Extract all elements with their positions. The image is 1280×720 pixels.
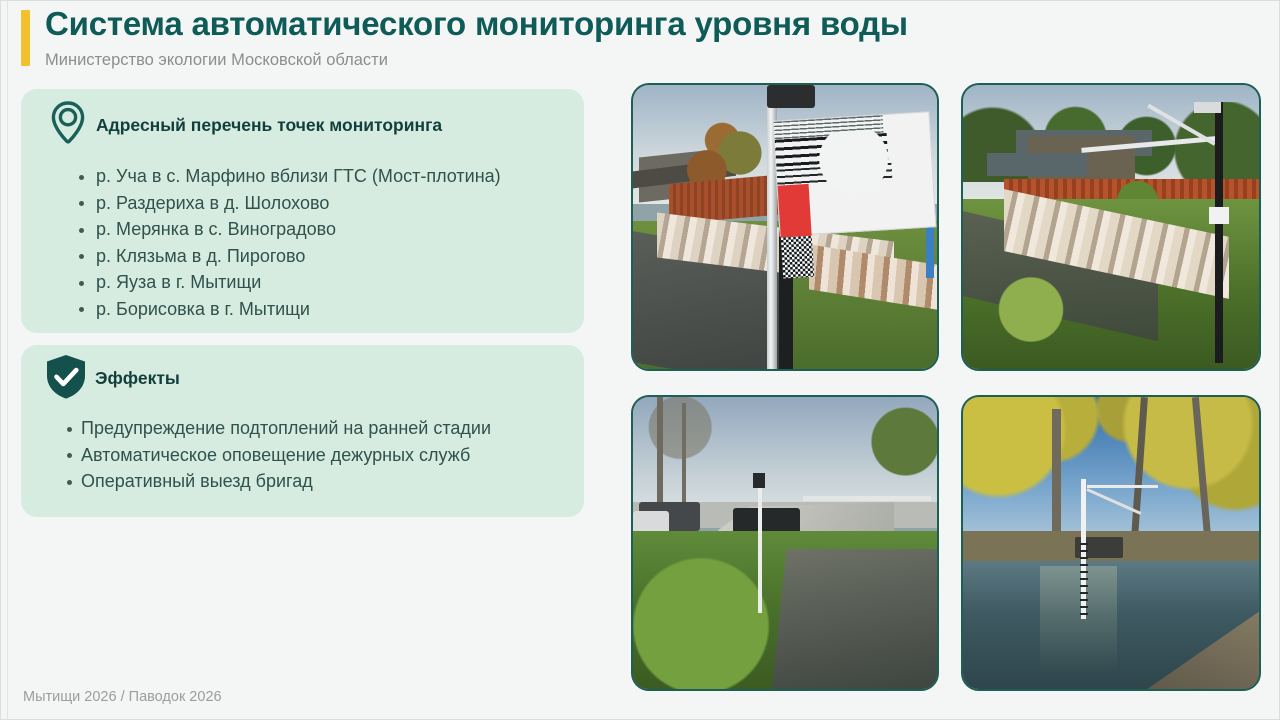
list-item: р. Клязьма в д. Пирогово xyxy=(75,243,501,270)
page-subtitle: Министерство экологии Московской области xyxy=(45,51,388,70)
antenna xyxy=(1194,102,1221,113)
card-monitoring-points: Адресный перечень точек мониторинга р. У… xyxy=(21,89,584,333)
water-reflection xyxy=(1040,566,1117,671)
coat-of-arms xyxy=(777,184,811,238)
information-sign xyxy=(772,112,936,237)
gauge-staff xyxy=(758,476,763,613)
gauge-markings xyxy=(1080,543,1089,619)
list-item: Предупреждение подтоплений на ранней ста… xyxy=(65,415,491,442)
monitoring-points-list: р. Уча в с. Марфино вблизи ГТС (Мост-пло… xyxy=(75,163,501,322)
card-header-effects: Эффекты xyxy=(21,345,584,397)
list-item: р. Мерянка в с. Виноградово xyxy=(75,216,501,243)
list-item: р. Раздериха в д. Шолохово xyxy=(75,190,501,217)
photo-culvert-under-road xyxy=(631,395,939,691)
accent-bar xyxy=(21,10,30,66)
blue-post xyxy=(926,227,934,278)
sensor-mast xyxy=(1215,102,1224,363)
sensor-device xyxy=(767,85,816,108)
list-item: р. Уча в с. Марфино вблизи ГТС (Мост-пло… xyxy=(75,163,501,190)
sensor-arm xyxy=(1087,485,1158,489)
autumn-foliage xyxy=(963,397,1259,549)
slide: Система автоматического мониторинга уров… xyxy=(0,0,1280,720)
bush xyxy=(633,549,803,689)
culvert-opening xyxy=(733,508,800,534)
list-item: р. Яуза в г. Мытищи xyxy=(75,269,501,296)
qr-code xyxy=(781,236,814,279)
bare-tree-canopy xyxy=(639,397,742,473)
tree-canopy-right xyxy=(858,397,937,496)
card-header-points: Адресный перечень точек мониторинга xyxy=(21,89,584,141)
shed-roof xyxy=(987,153,1088,176)
list-item: Оперативный выезд бригад xyxy=(65,468,491,495)
photo-autumn-pond-gauge xyxy=(961,395,1261,691)
sensor-box xyxy=(1209,207,1230,224)
bush xyxy=(981,267,1082,352)
card-title-points: Адресный перечень точек мониторинга xyxy=(96,115,442,136)
sensor-box xyxy=(753,473,765,488)
guard-rail xyxy=(803,496,931,501)
slide-footer: Мытищи 2026 / Паводок 2026 xyxy=(23,689,222,705)
card-effects: Эффекты Предупреждение подтоплений на ра… xyxy=(21,345,584,517)
list-item: р. Борисовка в г. Мытищи xyxy=(75,296,501,323)
shield-check-icon xyxy=(41,353,91,401)
page-title: Система автоматического мониторинга уров… xyxy=(45,5,908,43)
effects-list: Предупреждение подтоплений на ранней ста… xyxy=(65,415,491,495)
card-title-effects: Эффекты xyxy=(95,368,180,389)
slide-header: Система автоматического мониторинга уров… xyxy=(21,7,1201,69)
photo-grid xyxy=(631,83,1261,689)
map-pin-icon xyxy=(46,99,90,147)
photo-sensor-pole-channel xyxy=(961,83,1261,371)
photo-sign-on-pole xyxy=(631,83,939,371)
list-item: Автоматическое оповещение дежурных служб xyxy=(65,442,491,469)
